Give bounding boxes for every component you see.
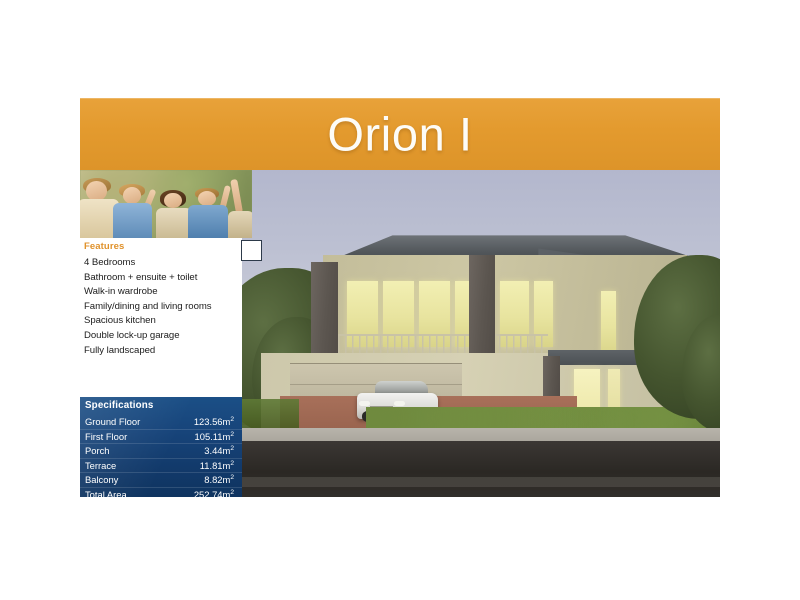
torso bbox=[228, 211, 252, 238]
spec-label: Balcony bbox=[80, 473, 170, 488]
head bbox=[164, 193, 181, 208]
spec-value: 8.82m2 bbox=[170, 473, 242, 488]
table-row: Terrace11.81m2 bbox=[80, 458, 242, 473]
specifications-table: Ground Floor123.56m2First Floor105.11m2P… bbox=[80, 415, 242, 497]
torso bbox=[113, 203, 152, 238]
person bbox=[188, 188, 231, 238]
page-title: Orion I bbox=[80, 111, 720, 158]
spec-label: Total Area bbox=[80, 487, 170, 497]
white-square-marker bbox=[241, 240, 262, 261]
torso bbox=[156, 208, 192, 238]
raised-arm bbox=[230, 179, 243, 213]
feature-item: Bathroom + ensuite + toilet bbox=[84, 271, 240, 286]
spec-value: 3.44m2 bbox=[170, 444, 242, 459]
feature-item: Walk-in wardrobe bbox=[84, 285, 240, 300]
table-row: Balcony8.82m2 bbox=[80, 473, 242, 488]
feature-item: Double lock-up garage bbox=[84, 329, 240, 344]
unit-exponent: 2 bbox=[230, 460, 234, 467]
spec-label: Ground Floor bbox=[80, 415, 170, 429]
spec-label: First Floor bbox=[80, 429, 170, 444]
unit-exponent: 2 bbox=[230, 430, 234, 437]
unit-exponent: 2 bbox=[230, 474, 234, 481]
specifications-heading: Specifications bbox=[85, 400, 154, 411]
head bbox=[123, 187, 141, 204]
garden-bed bbox=[242, 399, 299, 432]
torso bbox=[188, 205, 228, 238]
feature-item: 4 Bedrooms bbox=[84, 256, 240, 271]
feature-item: Fully landscaped bbox=[84, 344, 240, 359]
head bbox=[86, 181, 107, 201]
spec-value: 252.74m2 bbox=[170, 487, 242, 497]
table-row: Total Area252.74m2 bbox=[80, 487, 242, 497]
spec-value: 105.11m2 bbox=[170, 429, 242, 444]
unit-exponent: 2 bbox=[230, 416, 234, 423]
person bbox=[228, 184, 252, 238]
table-row: Porch3.44m2 bbox=[80, 444, 242, 459]
features-panel: Features 4 BedroomsBathroom + ensuite + … bbox=[80, 238, 242, 396]
specifications-panel: Specifications Ground Floor123.56m2First… bbox=[80, 397, 242, 497]
table-row: Ground Floor123.56m2 bbox=[80, 415, 242, 429]
car-headlight bbox=[394, 401, 405, 406]
spec-value: 11.81m2 bbox=[170, 458, 242, 473]
road-edge-line bbox=[242, 477, 720, 487]
title-banner: Orion I bbox=[80, 98, 720, 170]
spec-value: 123.56m2 bbox=[170, 415, 242, 429]
spec-label: Porch bbox=[80, 444, 170, 459]
window bbox=[601, 291, 616, 356]
spec-label: Terrace bbox=[80, 458, 170, 473]
house-exterior-render bbox=[242, 170, 720, 497]
road bbox=[242, 441, 720, 497]
brochure-canvas: Orion I bbox=[0, 0, 800, 600]
unit-exponent: 2 bbox=[230, 445, 234, 452]
head bbox=[198, 191, 216, 206]
feature-item: Spacious kitchen bbox=[84, 314, 240, 329]
table-row: First Floor105.11m2 bbox=[80, 429, 242, 444]
car-headlight bbox=[359, 401, 370, 406]
person bbox=[113, 185, 154, 238]
features-heading: Features bbox=[84, 241, 124, 252]
feature-item: Family/dining and living rooms bbox=[84, 300, 240, 315]
features-list: 4 BedroomsBathroom + ensuite + toiletWal… bbox=[84, 256, 240, 358]
unit-exponent: 2 bbox=[230, 489, 234, 496]
family-lifestyle-photo bbox=[80, 170, 252, 238]
